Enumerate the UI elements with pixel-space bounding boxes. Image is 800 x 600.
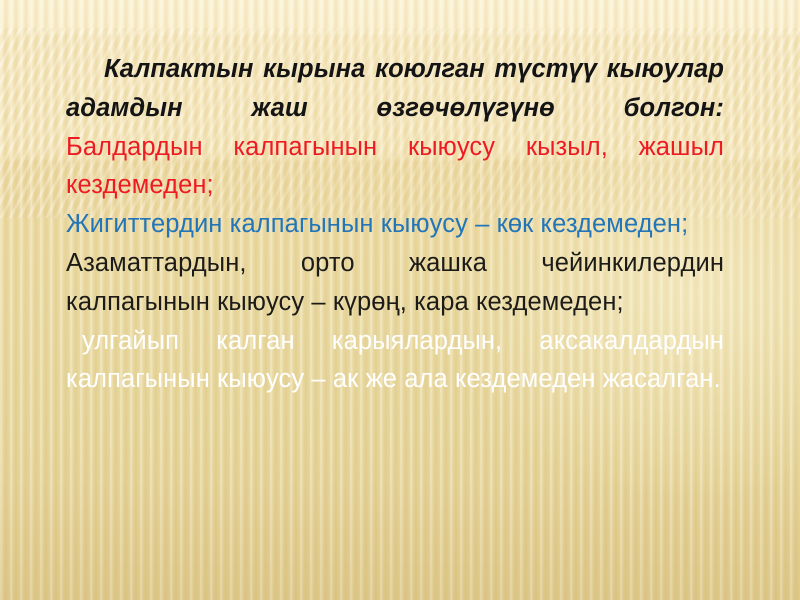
paragraph-intro: Калпактын кырына коюлган түстүү кыюулар … bbox=[66, 50, 724, 128]
paragraph-middle-aged: Азаматтардын, орто жашка чейинкилердин к… bbox=[66, 244, 724, 322]
paragraph-children: Балдардын калпагынын кыюусу кызыл, жашыл… bbox=[66, 128, 724, 206]
presentation-slide: Калпактын кырына коюлган түстүү кыюулар … bbox=[0, 0, 800, 600]
slide-text-body: Калпактын кырына коюлган түстүү кыюулар … bbox=[66, 50, 724, 399]
paragraph-young-men: Жигиттердин калпагынын кыюусу – көк кезд… bbox=[66, 205, 724, 244]
paragraph-elders: улгайып калган карыялардын, аксакалдарды… bbox=[66, 322, 724, 400]
